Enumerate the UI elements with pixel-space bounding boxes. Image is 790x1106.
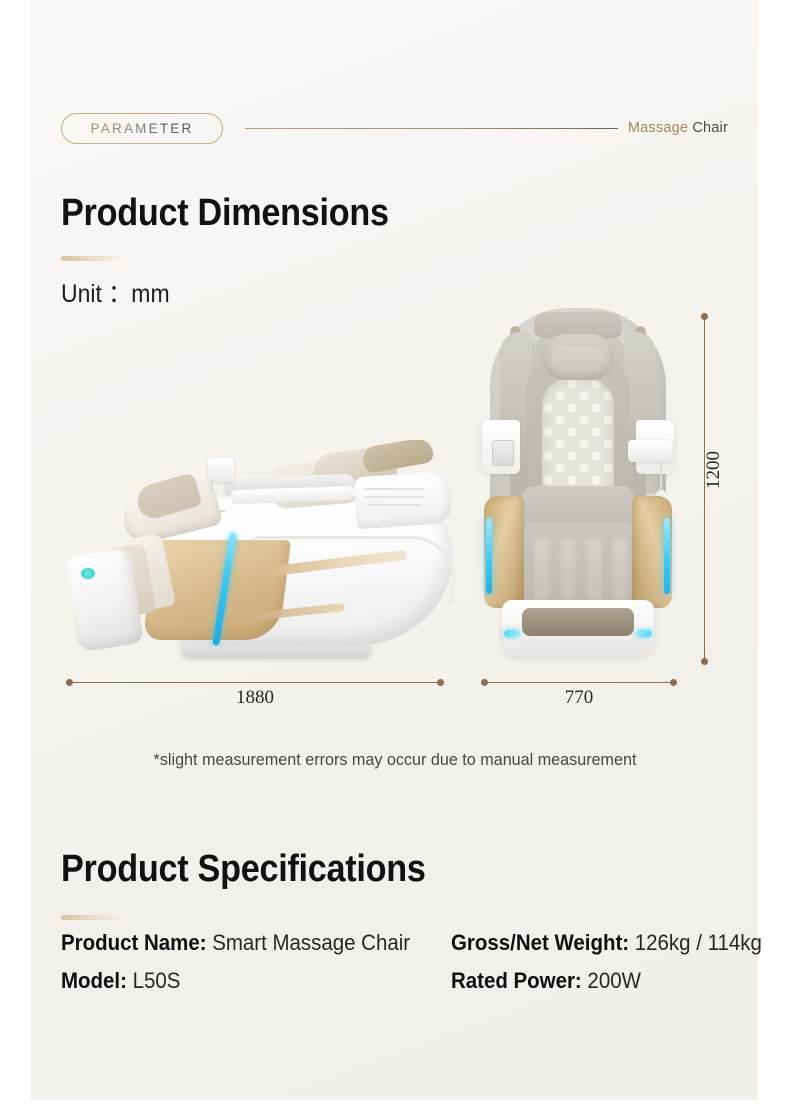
chair-shell-curve bbox=[249, 536, 455, 642]
measurement-footnote: *slight measurement errors may occur due… bbox=[20, 750, 771, 770]
spec-label: Gross/Net Weight: bbox=[451, 930, 629, 955]
dimension-length-value: 1880 bbox=[66, 687, 444, 709]
spec-product-name: Product Name: Smart Massage Chair bbox=[61, 930, 424, 956]
brand-label-secondary: Chair bbox=[688, 120, 728, 136]
spec-model: Model: L50S bbox=[61, 968, 424, 994]
chair-base-led-left bbox=[504, 630, 520, 637]
product-spec-page: PARAMETER Massage Chair Product Dimensio… bbox=[0, 0, 790, 1106]
chair-leg-slot bbox=[610, 536, 630, 610]
chair-base-inner bbox=[522, 608, 634, 636]
chair-back-line bbox=[365, 496, 423, 498]
chair-back-panel bbox=[353, 471, 452, 530]
brand-label-primary: Massage bbox=[628, 120, 688, 136]
section-header: PARAMETER Massage Chair bbox=[61, 112, 728, 144]
spec-label: Product Name: bbox=[61, 930, 207, 955]
chair-front-view-image bbox=[470, 300, 685, 668]
chair-back-line bbox=[367, 504, 421, 506]
spec-label: Rated Power: bbox=[451, 968, 582, 993]
gold-accent-bar bbox=[61, 256, 123, 261]
gold-accent-bar bbox=[61, 915, 123, 920]
chair-control-panel bbox=[492, 440, 514, 466]
spec-value: 126kg / 114kg bbox=[629, 930, 762, 955]
dimension-rule bbox=[71, 682, 439, 683]
chair-side-view-image bbox=[63, 440, 455, 668]
chair-leg-slot bbox=[558, 536, 578, 610]
spec-row: Product Name: Smart Massage Chair Gross/… bbox=[61, 930, 741, 956]
dimension-height-value: 1200 bbox=[703, 451, 725, 489]
chair-leg-slot bbox=[532, 536, 552, 610]
spec-value: Smart Massage Chair bbox=[207, 930, 411, 955]
spec-value: L50S bbox=[127, 968, 180, 993]
spec-gross-net-weight: Gross/Net Weight: 126kg / 114kg bbox=[451, 930, 762, 956]
specifications-list: Product Name: Smart Massage Chair Gross/… bbox=[61, 930, 741, 1006]
header-divider-line bbox=[245, 128, 618, 129]
dimension-rule bbox=[486, 682, 672, 683]
dimension-endpoint-icon bbox=[437, 679, 444, 686]
parameter-badge-label: PARAMETER bbox=[91, 121, 194, 136]
spec-label: Model: bbox=[61, 968, 127, 993]
spec-value: 200W bbox=[582, 968, 641, 993]
dimension-rule bbox=[704, 318, 705, 660]
chair-remote-control bbox=[208, 458, 234, 482]
dimension-endpoint-icon bbox=[701, 658, 708, 665]
chair-neck-pillow bbox=[552, 346, 604, 372]
dimension-height: 1200 bbox=[700, 313, 710, 665]
dimension-endpoint-icon bbox=[670, 679, 677, 686]
chair-remote-front bbox=[628, 440, 672, 462]
chair-quilted-panel bbox=[542, 378, 614, 502]
chair-led-right bbox=[664, 518, 670, 594]
chair-led-left bbox=[486, 518, 492, 594]
parameter-badge: PARAMETER bbox=[61, 113, 223, 144]
chair-headrest bbox=[361, 440, 434, 474]
specifications-section-title: Product Specifications bbox=[61, 848, 426, 891]
dimension-length: 1880 bbox=[66, 678, 444, 688]
chair-base-led-right bbox=[636, 630, 652, 637]
spec-rated-power: Rated Power: 200W bbox=[451, 968, 721, 994]
dimension-width-value: 770 bbox=[481, 687, 677, 709]
chair-footrest-led bbox=[81, 568, 95, 579]
dimensions-section-title: Product Dimensions bbox=[61, 192, 389, 235]
dimension-width: 770 bbox=[481, 678, 677, 688]
spec-row: Model: L50S Rated Power: 200W bbox=[61, 968, 741, 994]
brand-label: Massage Chair bbox=[628, 120, 728, 136]
unit-label: Unit ：mm bbox=[61, 274, 170, 310]
chair-leg-slot bbox=[584, 536, 604, 610]
chair-back-line bbox=[363, 488, 425, 490]
